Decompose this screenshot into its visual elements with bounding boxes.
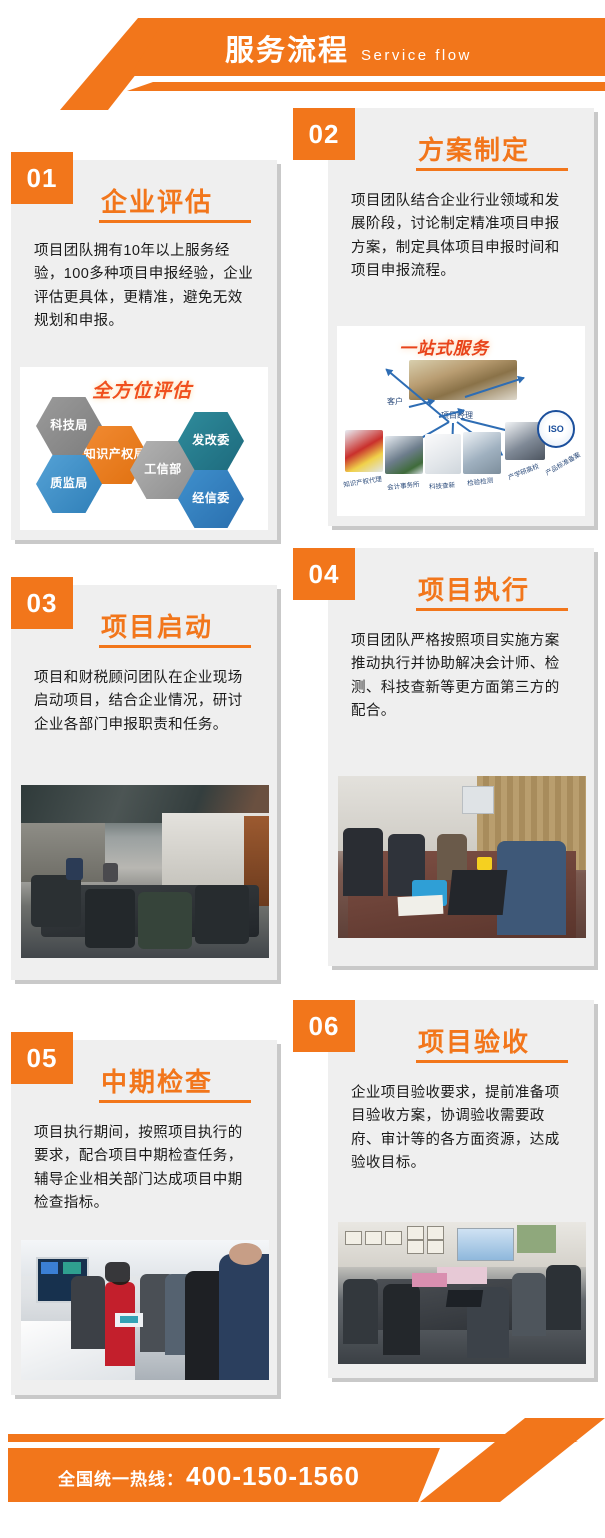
oss-branch-label-3: 科技查新	[429, 479, 456, 491]
step-title-02: 方案制定	[418, 130, 530, 167]
photo-team-working-laptops	[338, 776, 586, 938]
page-header: 服务流程 Service flow	[0, 0, 605, 110]
page-title-en: Service flow	[361, 47, 472, 64]
step-title-06: 项目验收	[418, 1022, 530, 1059]
step-title-underline-06	[416, 1060, 568, 1063]
header-title-group: 服务流程 Service flow	[225, 27, 472, 69]
step-badge-04: 04	[293, 548, 355, 600]
step-title-underline-02	[416, 168, 568, 171]
one-stop-service-title: 一站式服务	[399, 334, 489, 359]
step-title-04: 项目执行	[418, 570, 530, 607]
step-title-underline-01	[99, 220, 251, 223]
step-body-06: 企业项目验收要求，提前准备项目验收方案，协调验收需要政府、审计等的各方面资源，达…	[351, 1082, 573, 1176]
oss-photo-search	[425, 434, 461, 474]
oss-photo-accounting	[385, 436, 423, 474]
one-stop-service-diagram: 一站式服务 客户 项目经理 ISO 知识产权代理 会计事务所 科技查新 检验检测…	[337, 326, 585, 516]
step-card-05: 中期检查 项目执行期间，按照项目执行的要求，配合项目中期检查任务，辅导企业相关部…	[11, 1040, 277, 1395]
step-badge-02: 02	[293, 108, 355, 160]
hexagon-chart-title: 全方位评估	[92, 376, 192, 403]
step-body-05: 项目执行期间，按照项目执行的要求，配合项目中期检查任务，辅导企业相关部门达成项目…	[34, 1122, 256, 1216]
step-body-03: 项目和财税顾问团队在企业现场启动项目，结合企业情况，研讨企业各部门申报职责和任务…	[34, 667, 256, 737]
step-badge-05: 05	[11, 1032, 73, 1084]
oss-seal-text: ISO	[548, 424, 564, 434]
hexagon-assessment-chart: 全方位评估 科技局 知识产权局 质监局 工信部 商务局 发改委 经信委	[20, 367, 268, 530]
step-title-05: 中期检查	[101, 1062, 213, 1099]
oss-branch-label-4: 检验检测	[466, 474, 493, 487]
step-card-02: 方案制定 项目团队结合企业行业领域和发展阶段，讨论制定精准项目申报方案，制定具体…	[328, 108, 594, 526]
footer-accent-stripe	[8, 1434, 578, 1442]
oss-certification-seal: ISO	[537, 410, 575, 448]
page-footer: 全国统一热线： 400-150-1560	[0, 1418, 605, 1538]
photo-meeting-room-launch	[21, 785, 269, 958]
step-title-underline-03	[99, 645, 251, 648]
step-body-02: 项目团队结合企业行业领域和发展阶段，讨论制定精准项目申报方案，制定具体项目申报时…	[351, 190, 573, 284]
photo-site-visit-counter	[21, 1240, 269, 1380]
oss-photo-testing	[463, 432, 501, 474]
step-badge-01: 01	[11, 152, 73, 204]
step-body-04: 项目团队严格按照项目实施方案推动执行并协助解决会计师、检测、科技查新等更方面第三…	[351, 630, 573, 724]
oss-branch-label-1: 知识产权代理	[342, 473, 382, 489]
step-card-03: 项目启动 项目和财税顾问团队在企业现场启动项目，结合企业情况，研讨企业各部门申报…	[11, 585, 277, 980]
step-body-01: 项目团队拥有10年以上服务经验，100多种项目申报经验，企业评估更具体，更精准，…	[34, 240, 256, 334]
oss-branch-label-6: 产品标准备案	[543, 449, 582, 477]
step-title-underline-05	[99, 1100, 251, 1103]
footer-diagonal-accent	[420, 1418, 605, 1502]
oss-branch-label-5: 产学研高校	[506, 460, 540, 481]
page-title-cn: 服务流程	[225, 27, 349, 69]
header-accent-stripe	[105, 82, 605, 91]
step-badge-03: 03	[11, 577, 73, 629]
footer-hotline-group: 全国统一热线： 400-150-1560	[58, 1461, 360, 1492]
step-card-01: 企业评估 项目团队拥有10年以上服务经验，100多种项目申报经验，企业评估更具体…	[11, 160, 277, 540]
oss-label-customer: 客户	[387, 396, 403, 407]
oss-branch-label-2: 会计事务所	[387, 478, 420, 491]
step-card-06: 项目验收 企业项目验收要求，提前准备项目验收方案，协调验收需要政府、审计等的各方…	[328, 1000, 594, 1378]
step-title-03: 项目启动	[101, 607, 213, 644]
oss-photo-ip	[345, 430, 383, 472]
step-badge-06: 06	[293, 1000, 355, 1052]
step-title-01: 企业评估	[101, 182, 213, 219]
photo-acceptance-conference	[338, 1222, 586, 1364]
oss-photo-meeting	[409, 360, 517, 400]
step-title-underline-04	[416, 608, 568, 611]
hotline-label: 全国统一热线：	[58, 1465, 184, 1490]
hotline-number[interactable]: 400-150-1560	[186, 1461, 360, 1492]
step-card-04: 项目执行 项目团队严格按照项目实施方案推动执行并协助解决会计师、检测、科技查新等…	[328, 548, 594, 966]
